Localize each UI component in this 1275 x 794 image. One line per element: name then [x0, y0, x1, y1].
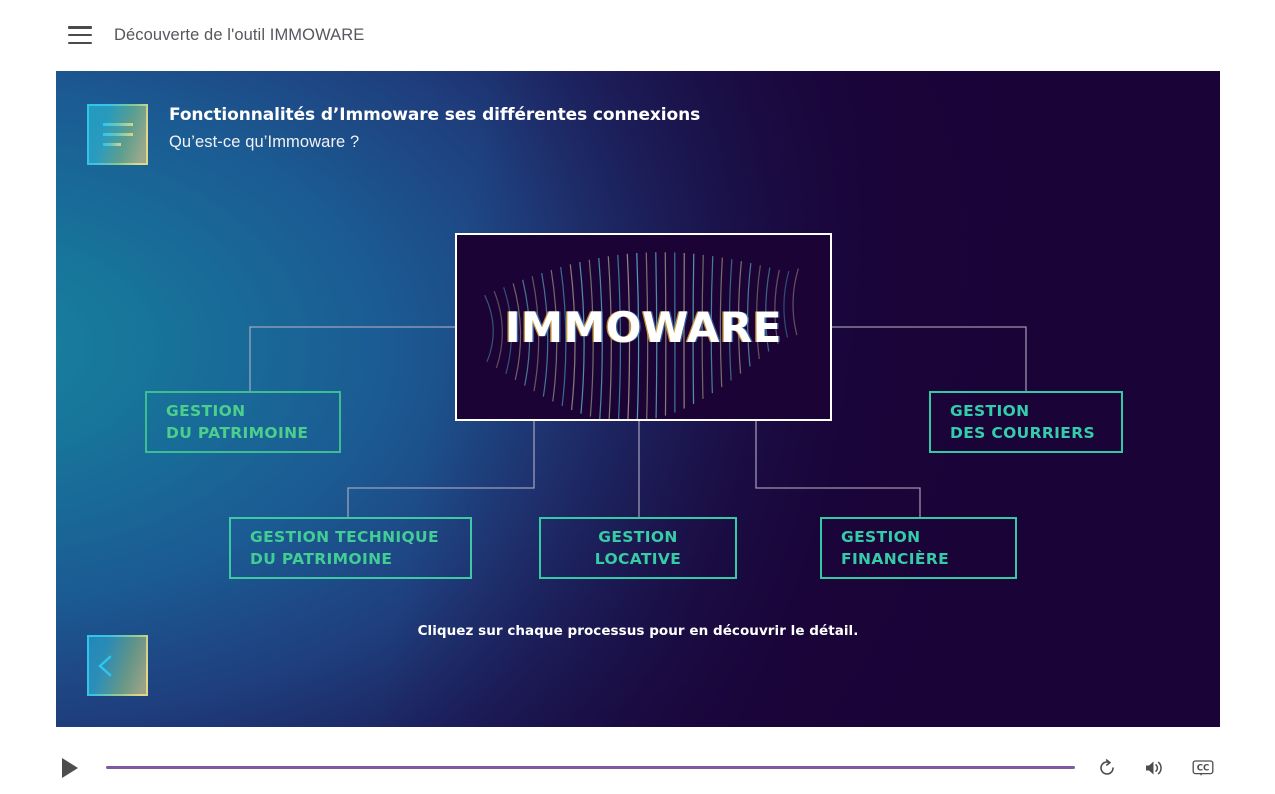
hamburger-bar — [68, 34, 92, 37]
process-label: GESTION TECHNIQUE DU PATRIMOINE — [250, 526, 470, 571]
slide-stage: Fonctionnalités d’Immoware ses différent… — [56, 71, 1220, 727]
process-label: GESTION DES COURRIERS — [950, 400, 1121, 445]
slide-header: Fonctionnalités d’Immoware ses différent… — [169, 105, 700, 152]
media-player-bar: CC — [0, 741, 1275, 794]
process-box-gestion-locative[interactable]: GESTION LOCATIVE — [539, 517, 737, 579]
icon-line — [103, 123, 133, 126]
process-label: GESTION LOCATIVE — [595, 526, 681, 571]
progress-scrubber[interactable] — [106, 766, 1075, 769]
immoware-hero-box: IMMOWARE — [455, 233, 832, 421]
course-title: Découverte de l'outil IMMOWARE — [114, 26, 364, 45]
back-button[interactable] — [87, 635, 148, 696]
process-box-gestion-des-courriers[interactable]: GESTION DES COURRIERS — [929, 391, 1123, 453]
hamburger-menu-icon[interactable] — [68, 26, 92, 44]
slide-subtitle: Qu’est-ce qu’Immoware ? — [169, 133, 700, 152]
slide-caption: Cliquez sur chaque processus pour en déc… — [56, 623, 1220, 639]
svg-text:CC: CC — [1197, 763, 1210, 773]
document-lines-icon — [87, 104, 148, 165]
hero-label: IMMOWARE — [505, 303, 782, 352]
cc-icon[interactable]: CC — [1191, 756, 1215, 780]
top-bar: Découverte de l'outil IMMOWARE — [0, 0, 1275, 70]
process-label: GESTION DU PATRIMOINE — [166, 400, 339, 445]
play-icon[interactable] — [62, 758, 78, 778]
volume-icon[interactable] — [1143, 756, 1167, 780]
icon-line — [103, 143, 121, 146]
player-controls: CC — [1095, 756, 1215, 780]
process-box-gestion-technique-du-patrimoine[interactable]: GESTION TECHNIQUE DU PATRIMOINE — [229, 517, 472, 579]
replay-icon[interactable] — [1095, 756, 1119, 780]
slide-title: Fonctionnalités d’Immoware ses différent… — [169, 105, 700, 125]
icon-line — [103, 133, 133, 136]
process-label: GESTION FINANCIÈRE — [841, 526, 1015, 571]
arrow-left-icon — [97, 654, 139, 678]
hamburger-bar — [68, 26, 92, 29]
process-box-gestion-du-patrimoine[interactable]: GESTION DU PATRIMOINE — [145, 391, 341, 453]
hamburger-bar — [68, 42, 92, 45]
process-box-gestion-financiere[interactable]: GESTION FINANCIÈRE — [820, 517, 1017, 579]
